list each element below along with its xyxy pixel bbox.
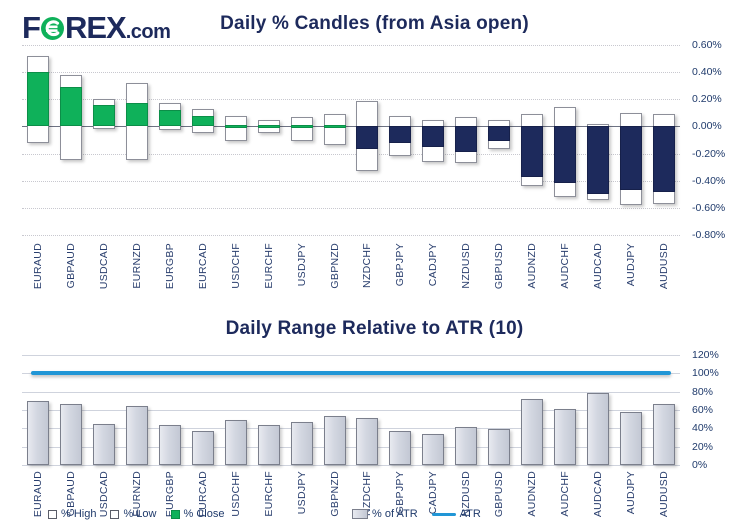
y-axis-tick-label: 0.60% — [692, 39, 722, 51]
gridline — [22, 72, 680, 73]
legend-swatch-atr-icon — [352, 509, 368, 519]
x-axis-tick-label: USDCHF — [230, 243, 242, 289]
legend-item[interactable]: % Low — [110, 508, 156, 520]
atr-bar — [27, 401, 49, 465]
atr-bar — [389, 431, 411, 465]
candle — [587, 45, 609, 235]
candles-chart-title: Daily % Candles (from Asia open) — [0, 13, 749, 35]
legend-swatch-line-icon — [432, 513, 456, 516]
x-axis-tick-label: EURCHF — [263, 471, 275, 517]
atr-bar — [422, 434, 444, 465]
x-axis-tick-label: EURGBP — [164, 243, 176, 289]
x-axis-tick-label: EURCAD — [197, 243, 209, 289]
candle — [554, 45, 576, 235]
x-axis-tick-label: EURAUD — [32, 243, 44, 289]
x-axis-tick-label: GBPJPY — [394, 243, 406, 286]
y-axis-tick-label: -0.20% — [692, 148, 725, 160]
candle-body-up — [93, 105, 115, 127]
atr-bar — [455, 427, 477, 466]
x-axis-tick-label: EURCHF — [263, 243, 275, 289]
y-axis-tick-label: -0.60% — [692, 202, 725, 214]
atr-bar — [258, 425, 280, 465]
candle-body-down — [389, 126, 411, 142]
legend-swatch-green-icon — [171, 510, 180, 519]
y-axis-tick-label: 60% — [692, 404, 713, 416]
candle — [60, 45, 82, 235]
candle-body-down — [554, 126, 576, 183]
candle-body-down — [422, 126, 444, 146]
candle-body-up — [258, 125, 280, 128]
y-axis-tick-label: 0.40% — [692, 66, 722, 78]
candle-range — [291, 117, 313, 141]
y-axis-tick-label: -0.80% — [692, 229, 725, 241]
zero-axis-line — [22, 126, 680, 127]
gridline — [22, 235, 680, 236]
legend-swatch-hollow-icon — [110, 510, 119, 519]
x-axis-tick-label: AUDUSD — [658, 471, 670, 517]
legend-label: % of ATR — [372, 508, 418, 520]
atr-bar — [356, 418, 378, 465]
x-axis-tick-label: GBPNZD — [329, 243, 341, 289]
legend-label: % Close — [184, 508, 225, 520]
gridline — [22, 355, 680, 356]
atr-bar — [324, 416, 346, 466]
x-axis-tick-label: USDJPY — [296, 471, 308, 514]
candle-body-down — [521, 126, 543, 176]
candle-body-down — [653, 126, 675, 191]
candle — [422, 45, 444, 235]
candle — [356, 45, 378, 235]
candle — [291, 45, 313, 235]
x-axis-tick-label: AUDJPY — [625, 471, 637, 514]
legend-label: ATR — [460, 508, 481, 520]
candle — [324, 45, 346, 235]
x-axis-tick-label: AUDCHF — [559, 471, 571, 517]
legend-item[interactable]: % High — [48, 508, 96, 520]
x-axis-tick-label: GBPUSD — [493, 243, 505, 289]
atr-bar — [488, 429, 510, 465]
candle — [653, 45, 675, 235]
candle-body-down — [455, 126, 477, 152]
x-axis-tick-label: GBPUSD — [493, 471, 505, 517]
y-axis-tick-label: 120% — [692, 349, 719, 361]
y-axis-tick-label: 20% — [692, 441, 713, 453]
candle — [126, 45, 148, 235]
y-axis-tick-label: 0% — [692, 459, 707, 471]
atr-bar — [126, 406, 148, 465]
candle-body-up — [225, 125, 247, 128]
x-axis-tick-label: USDCHF — [230, 471, 242, 517]
candle — [93, 45, 115, 235]
x-axis-tick-label: EURAUD — [32, 471, 44, 517]
candle-body-down — [356, 126, 378, 149]
candle — [27, 45, 49, 235]
legend-label: % Low — [123, 508, 156, 520]
x-axis-tick-label: EURNZD — [131, 243, 143, 289]
y-axis-tick-label: 0.00% — [692, 120, 722, 132]
candle — [159, 45, 181, 235]
gridline — [22, 392, 680, 393]
candle-body-up — [27, 72, 49, 126]
atr-bar — [192, 431, 214, 465]
x-axis-tick-label: AUDCAD — [592, 471, 604, 517]
legend-swatch-hollow-icon — [48, 510, 57, 519]
candle-body-down — [488, 126, 510, 141]
atr-bar — [587, 393, 609, 465]
x-axis-tick-label: CADJPY — [427, 243, 439, 286]
candles-legend: % High% Low% Close — [48, 508, 224, 520]
candle — [455, 45, 477, 235]
candle — [192, 45, 214, 235]
legend-item[interactable]: ATR — [432, 508, 481, 520]
atr-chart-title: Daily Range Relative to ATR (10) — [0, 318, 749, 340]
atr-bar — [225, 420, 247, 465]
atr-reference-line — [31, 371, 670, 375]
candle — [258, 45, 280, 235]
candle-range — [324, 114, 346, 145]
candle — [488, 45, 510, 235]
x-axis-tick-label: AUDNZD — [526, 243, 538, 289]
x-axis-tick-label: NZDUSD — [460, 243, 472, 289]
candle-range — [225, 116, 247, 142]
x-axis-tick-label: USDJPY — [296, 243, 308, 286]
atr-bar — [620, 412, 642, 465]
x-axis-tick-label: USDCAD — [98, 243, 110, 289]
x-axis-tick-label: AUDCHF — [559, 243, 571, 289]
candle — [521, 45, 543, 235]
gridline — [22, 154, 680, 155]
atr-bar — [653, 404, 675, 465]
x-axis-tick-label: GBPNZD — [329, 471, 341, 517]
x-axis-tick-label: NZDCHF — [361, 243, 373, 288]
candle — [389, 45, 411, 235]
gridline — [22, 447, 680, 448]
y-axis-tick-label: 100% — [692, 367, 719, 379]
y-axis-tick-label: 0.20% — [692, 93, 722, 105]
candle-body-up — [159, 110, 181, 126]
x-axis-tick-label: AUDCAD — [592, 243, 604, 289]
atr-bar — [554, 409, 576, 465]
candle — [225, 45, 247, 235]
y-axis-tick-label: -0.40% — [692, 175, 725, 187]
atr-plot-area — [22, 355, 680, 465]
x-axis-tick-label: GBPAUD — [65, 243, 77, 288]
legend-item[interactable]: % of ATR — [352, 508, 418, 520]
candle-body-down — [587, 126, 609, 194]
candle-body-down — [620, 126, 642, 190]
atr-bar — [159, 425, 181, 465]
gridline — [22, 45, 680, 46]
candle-body-up — [126, 103, 148, 126]
gridline — [22, 99, 680, 100]
gridline — [22, 428, 680, 429]
atr-bar — [60, 404, 82, 465]
candle — [620, 45, 642, 235]
y-axis-tick-label: 40% — [692, 422, 713, 434]
atr-bar — [93, 424, 115, 465]
gridline — [22, 181, 680, 182]
x-axis-tick-label: AUDJPY — [625, 243, 637, 286]
atr-legend: % of ATRATR — [352, 508, 481, 520]
gridline — [22, 208, 680, 209]
legend-item[interactable]: % Close — [171, 508, 225, 520]
candle-body-up — [324, 125, 346, 128]
candle-body-up — [291, 125, 313, 128]
atr-bar — [291, 422, 313, 465]
gridline — [22, 465, 680, 466]
atr-bar — [521, 399, 543, 465]
x-axis-tick-label: AUDUSD — [658, 243, 670, 289]
y-axis-tick-label: 80% — [692, 386, 713, 398]
candles-plot-area — [22, 45, 680, 235]
legend-label: % High — [61, 508, 96, 520]
candle-body-up — [60, 87, 82, 126]
candle-body-up — [192, 116, 214, 127]
x-axis-tick-label: AUDNZD — [526, 471, 538, 517]
gridline — [22, 410, 680, 411]
